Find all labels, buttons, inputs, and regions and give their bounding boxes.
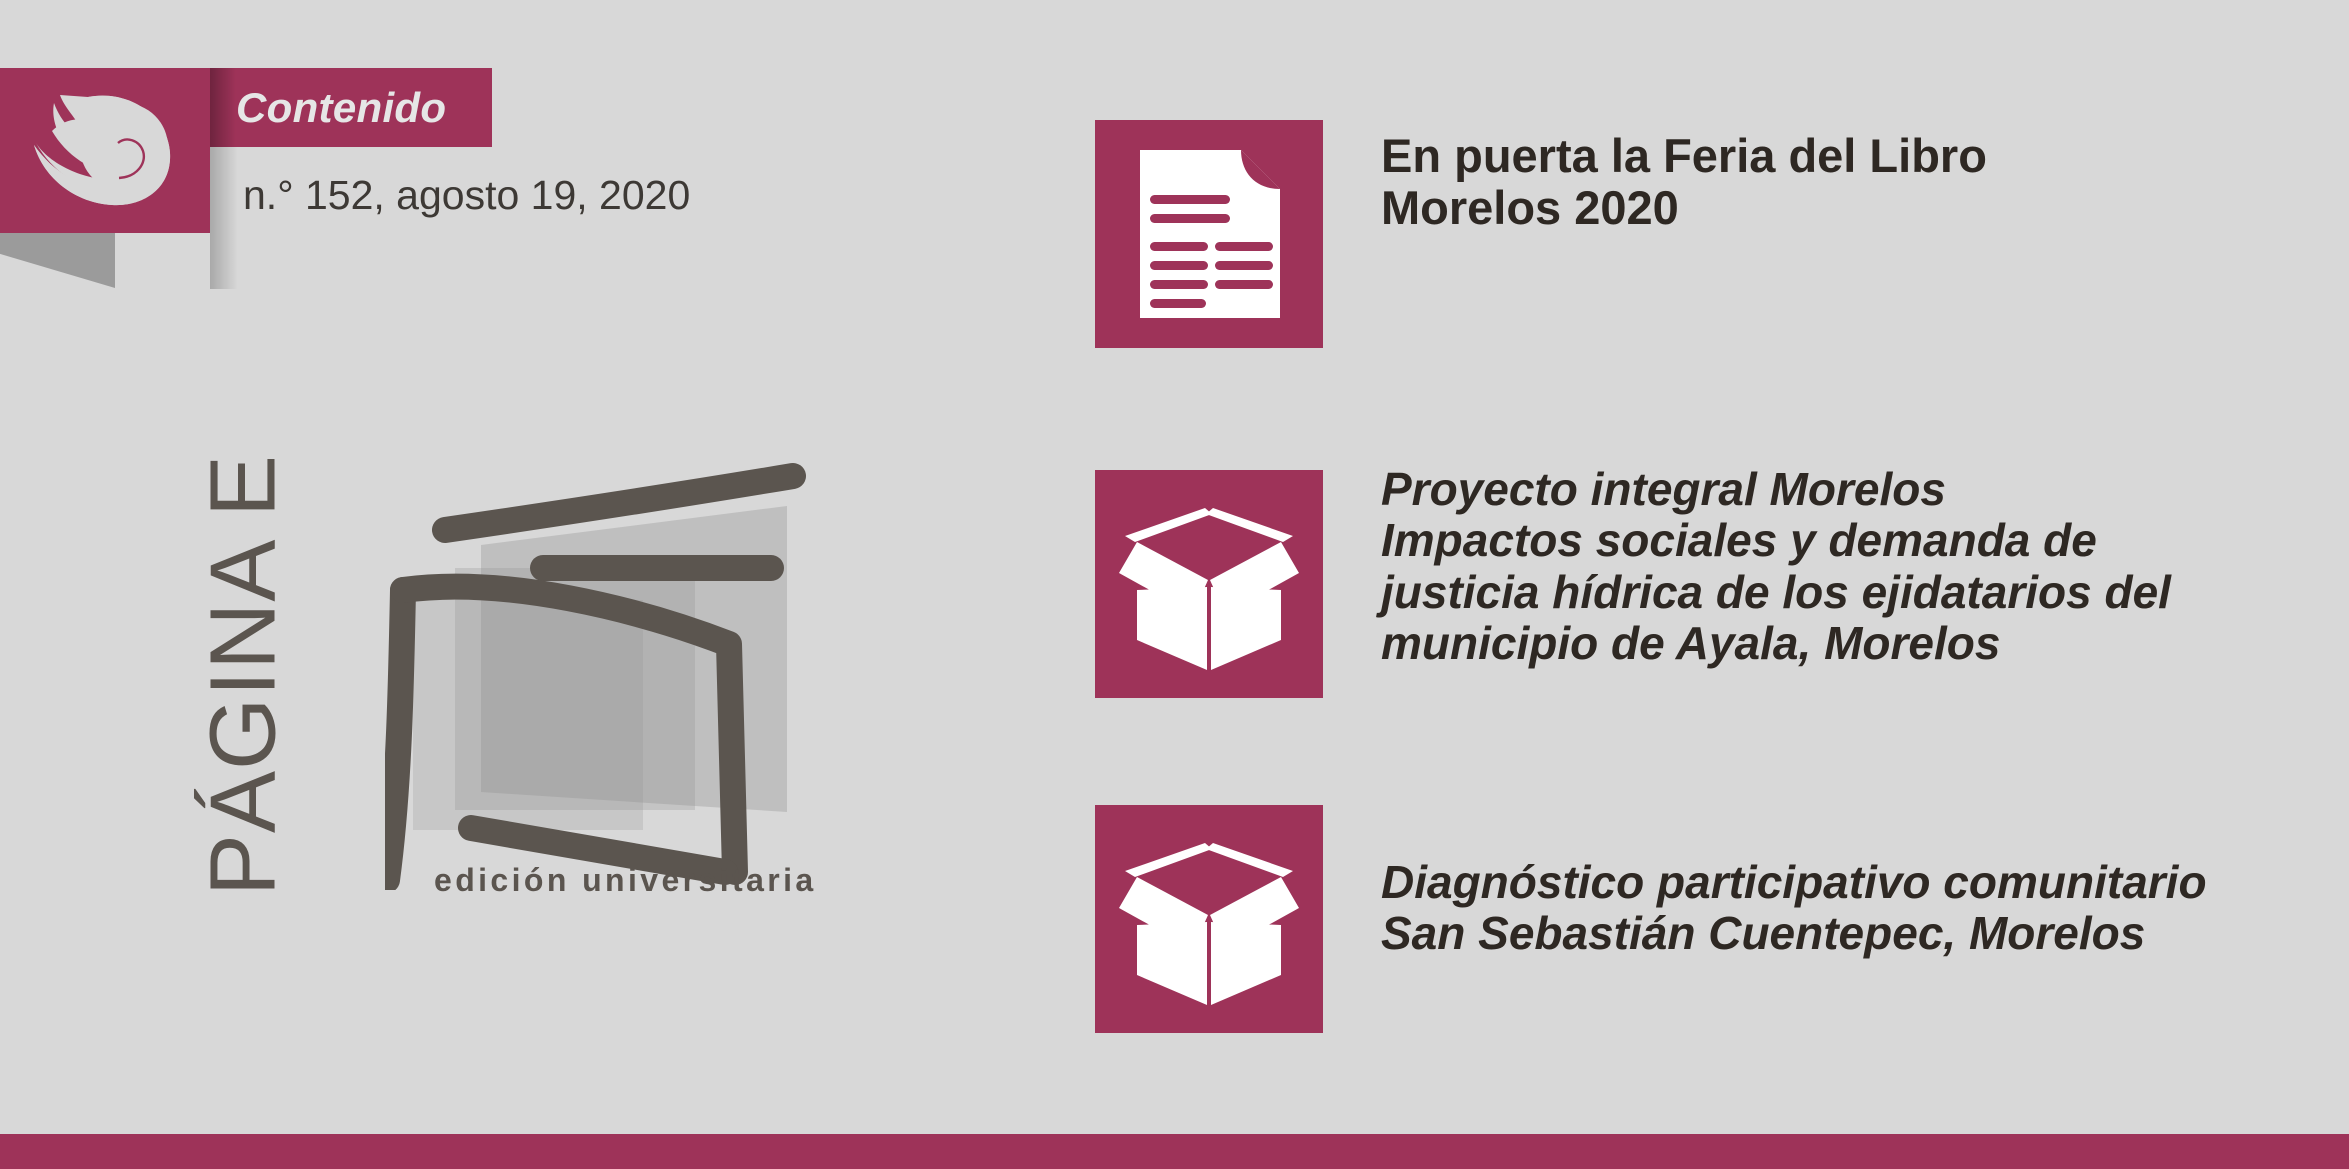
contenido-banner: Contenido [210, 68, 492, 147]
banner-vertical-shadow [210, 147, 238, 289]
document-icon [1095, 120, 1323, 348]
content-item[interactable]: En puerta la Feria del Libro Morelos 202… [1095, 120, 1987, 348]
issue-line: n.° 152, agosto 19, 2020 [243, 172, 690, 219]
content-item[interactable]: Proyecto integral Morelos Impactos socia… [1095, 470, 2171, 698]
content-item-title: Proyecto integral Morelos Impactos socia… [1381, 464, 2171, 669]
open-book-mark-icon [385, 440, 845, 890]
footer-accent-bar [0, 1134, 2349, 1169]
banner-inner-shadow [210, 68, 236, 147]
page-root: Contenido n.° 152, agosto 19, 2020 PÁGIN… [0, 0, 2349, 1169]
open-box-icon [1095, 805, 1323, 1033]
masthead-plate [0, 68, 210, 233]
edicion-universitaria-tagline: edición universitaria [434, 862, 817, 899]
content-item-title: En puerta la Feria del Libro Morelos 202… [1381, 130, 1987, 235]
pagina-e-text: PÁGINA E [190, 454, 297, 896]
pagina-e-wordmark: PÁGINA E [193, 430, 293, 920]
swirl-logo-icon [30, 95, 182, 207]
contenido-label: Contenido [236, 84, 446, 132]
content-item-title: Diagnóstico participativo comunitario Sa… [1381, 857, 2207, 960]
open-box-icon [1095, 470, 1323, 698]
masthead-fold-shadow [0, 233, 115, 288]
content-item[interactable]: Diagnóstico participativo comunitario Sa… [1095, 805, 2207, 1033]
